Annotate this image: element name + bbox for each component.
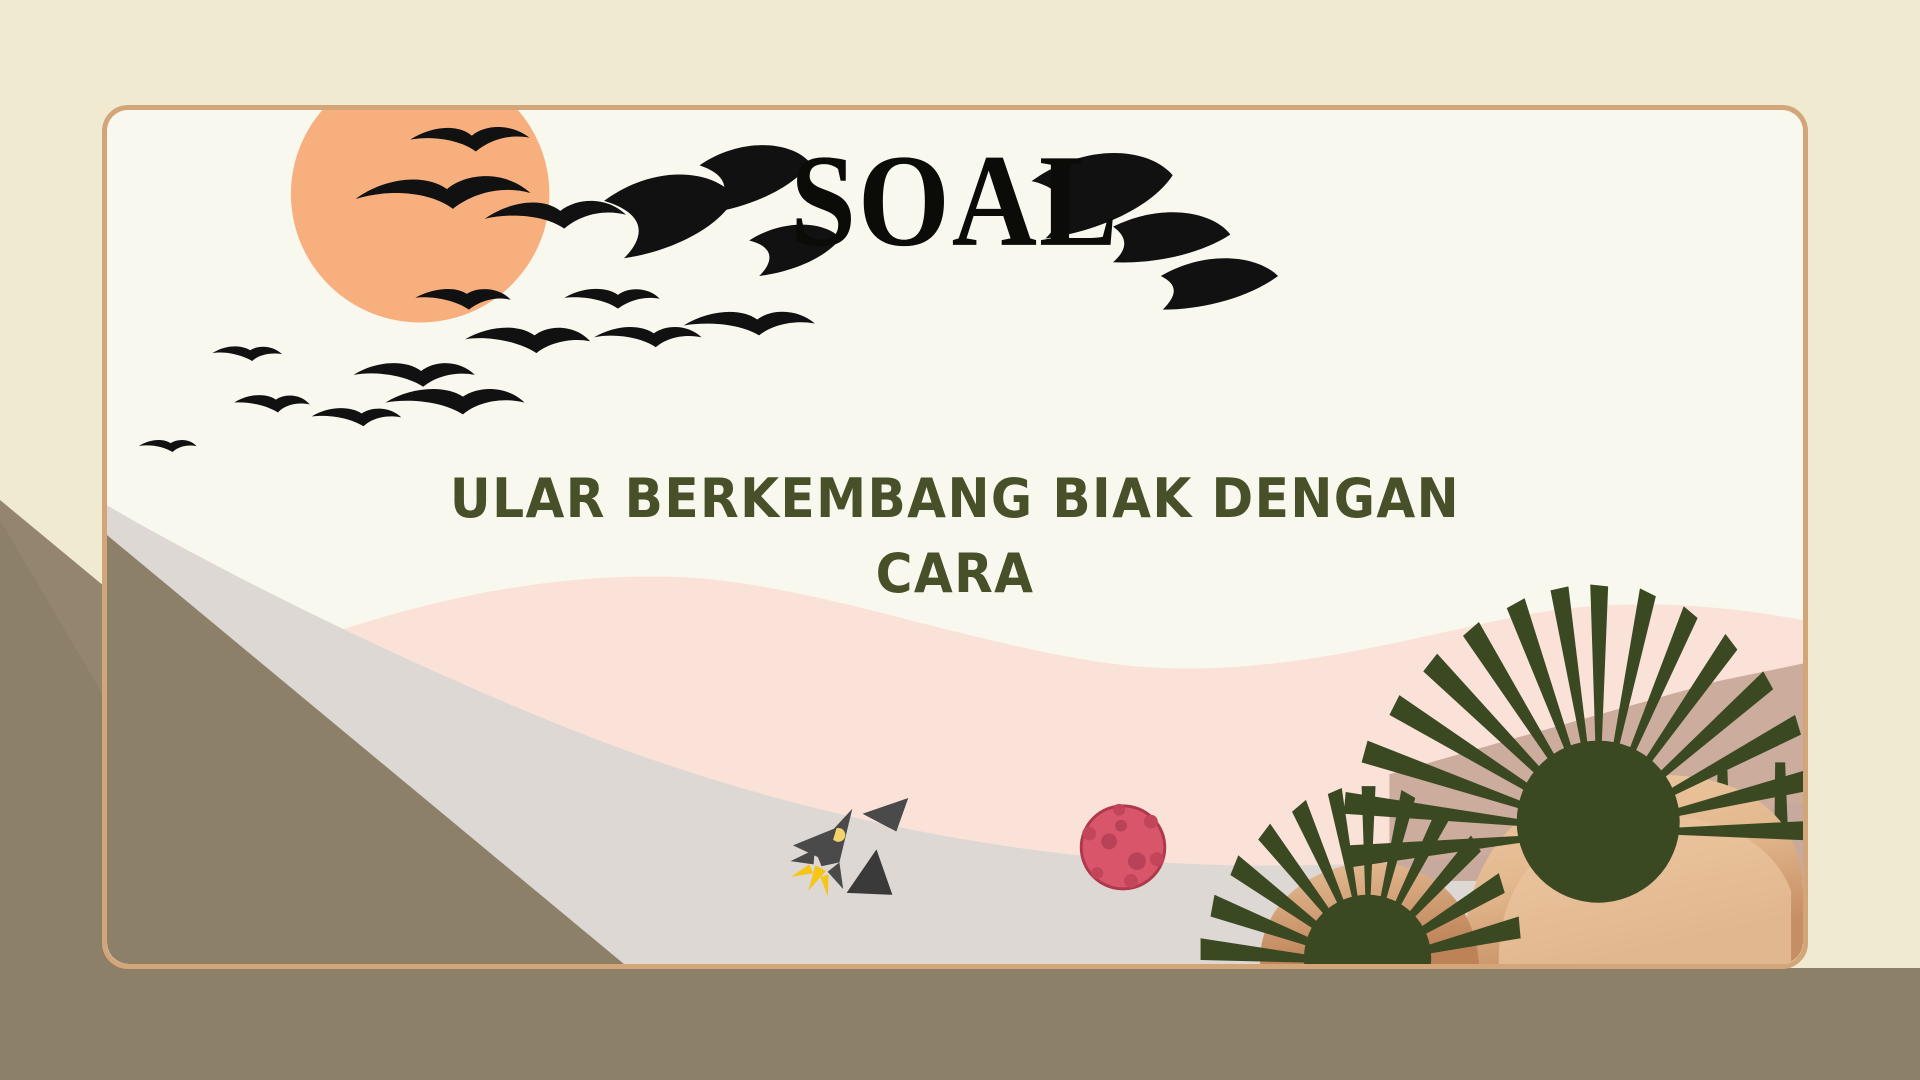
question-line-1: ULAR BERKEMBANG BIAK DENGAN xyxy=(406,462,1503,537)
page-title: SOAL xyxy=(107,134,1803,269)
slide-canvas: SOAL ULAR BERKEMBANG BIAK DENGAN CARA US… xyxy=(0,0,1920,1080)
content-card: SOAL ULAR BERKEMBANG BIAK DENGAN CARA US… xyxy=(102,105,1808,969)
question-line-2: CARA xyxy=(406,537,1503,612)
uspace-logo: USPACE xyxy=(775,948,1135,969)
question-text-block: ULAR BERKEMBANG BIAK DENGAN CARA xyxy=(365,462,1545,611)
uspace-logo-text: USPACE xyxy=(775,948,1135,969)
